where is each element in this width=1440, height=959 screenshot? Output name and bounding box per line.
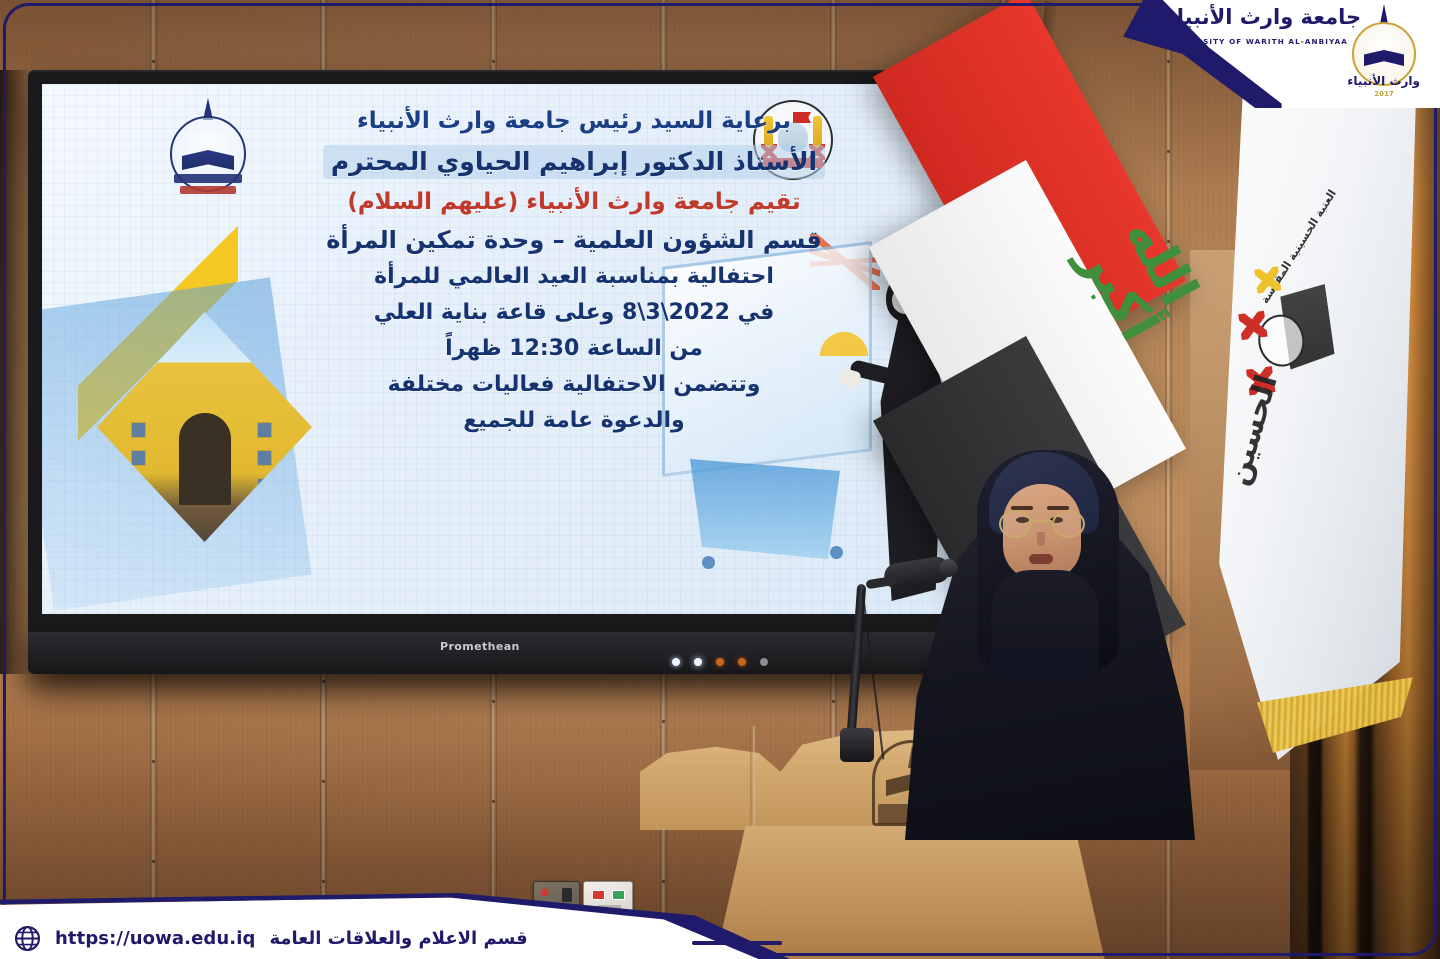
slide-line-activities: وتتضمن الاحتفالية فعاليات مختلفة [222, 372, 926, 398]
slide-line-president-name: الأستاذ الدكتور إبراهيم الحياوي المحترم [323, 145, 825, 179]
presentation-slide: معاً لنصنع مستقبل مشرق [42, 84, 954, 614]
glasses-lens [999, 510, 1032, 538]
footer-content-row: https://uowa.edu.iq قسم الاعلام والعلاقا… [14, 925, 534, 952]
photo-stage: معاً لنصنع مستقبل مشرق [0, 0, 1440, 959]
footer-accent-rule [692, 941, 782, 945]
logo-gold-ornament [1254, 266, 1281, 293]
slide-line-invitation: والدعوة عامة للجميع [222, 408, 926, 434]
panel-screen: معاً لنصنع مستقبل مشرق [42, 84, 954, 614]
panel-brand-label: Promethean [440, 640, 520, 653]
glasses-lens [1052, 510, 1085, 538]
seal-arabic-name: وارث الأنبياء [1348, 74, 1420, 88]
globe-icon [14, 925, 41, 952]
microphone-base [840, 728, 874, 762]
university-wordmark: جامعة وارث الأنبياء UNIVERSITY OF WARITH… [1166, 6, 1336, 48]
building-window [257, 450, 272, 466]
building-window [131, 422, 146, 438]
panel-side-shadow [0, 70, 30, 674]
seal-spire-icon [1380, 4, 1388, 24]
white-led [694, 658, 702, 666]
university-gold-seal: وارث الأنبياء 2017 [1346, 4, 1422, 100]
wordmark-arabic: جامعة وارث الأنبياء [1166, 5, 1361, 29]
slide-line-name-wrap: الأستاذ الدكتور إبراهيم الحياوي المحترم [222, 145, 926, 179]
media-department-name: قسم الاعلام والعلاقات العامة [269, 928, 527, 949]
power-led[interactable] [672, 658, 680, 666]
speaker-chin-veil [991, 570, 1099, 680]
slide-line-patronage: برعاية السيد رئيس جامعة وارث الأنبياء [222, 108, 926, 135]
logo-red-ornament [1238, 311, 1267, 340]
website-url[interactable]: https://uowa.edu.iq [55, 928, 255, 949]
header-branding: جامعة وارث الأنبياء UNIVERSITY OF WARITH… [1110, 0, 1440, 108]
slide-line-department: قسم الشؤون العلمية – وحدة تمكين المرأة [222, 226, 926, 254]
amber-led [716, 658, 724, 666]
podium-seam [750, 726, 755, 830]
illustration-stand [690, 459, 840, 559]
wordmark-english: UNIVERSITY OF WARITH AL-ANBIYAA [1166, 37, 1348, 46]
footer-banner: https://uowa.edu.iq قسم الاعلام والعلاقا… [0, 893, 790, 959]
seal-year: 2017 [1346, 90, 1422, 98]
panel-led-cluster [672, 658, 768, 666]
speaker-mouth [1029, 554, 1053, 564]
speaker-eyeglasses [997, 510, 1089, 540]
dim-led [760, 658, 768, 666]
glasses-bridge [1032, 520, 1052, 522]
slide-line-time: من الساعة 12:30 ظهراً [222, 336, 926, 362]
slide-line-organizer: تقيم جامعة وارث الأنبياء (عليهم السلام) [222, 189, 926, 216]
podium-microphone [812, 556, 992, 786]
shrine-ceremonial-flag: العتبة الحسينية المقدسة الحسين [1215, 60, 1425, 760]
slide-line-occasion: احتفالية بمناسبة العيد العالمي للمرأة [222, 264, 926, 290]
slide-line-date-venue: في 2022\3\8 وعلى قاعة بناية العلي [222, 300, 926, 326]
slide-text-block: برعاية السيد رئيس جامعة وارث الأنبياء ال… [222, 108, 926, 444]
building-window [131, 450, 146, 466]
microphone-capsule [882, 555, 951, 591]
illustration-wheel [702, 556, 715, 569]
amber-led [738, 658, 746, 666]
